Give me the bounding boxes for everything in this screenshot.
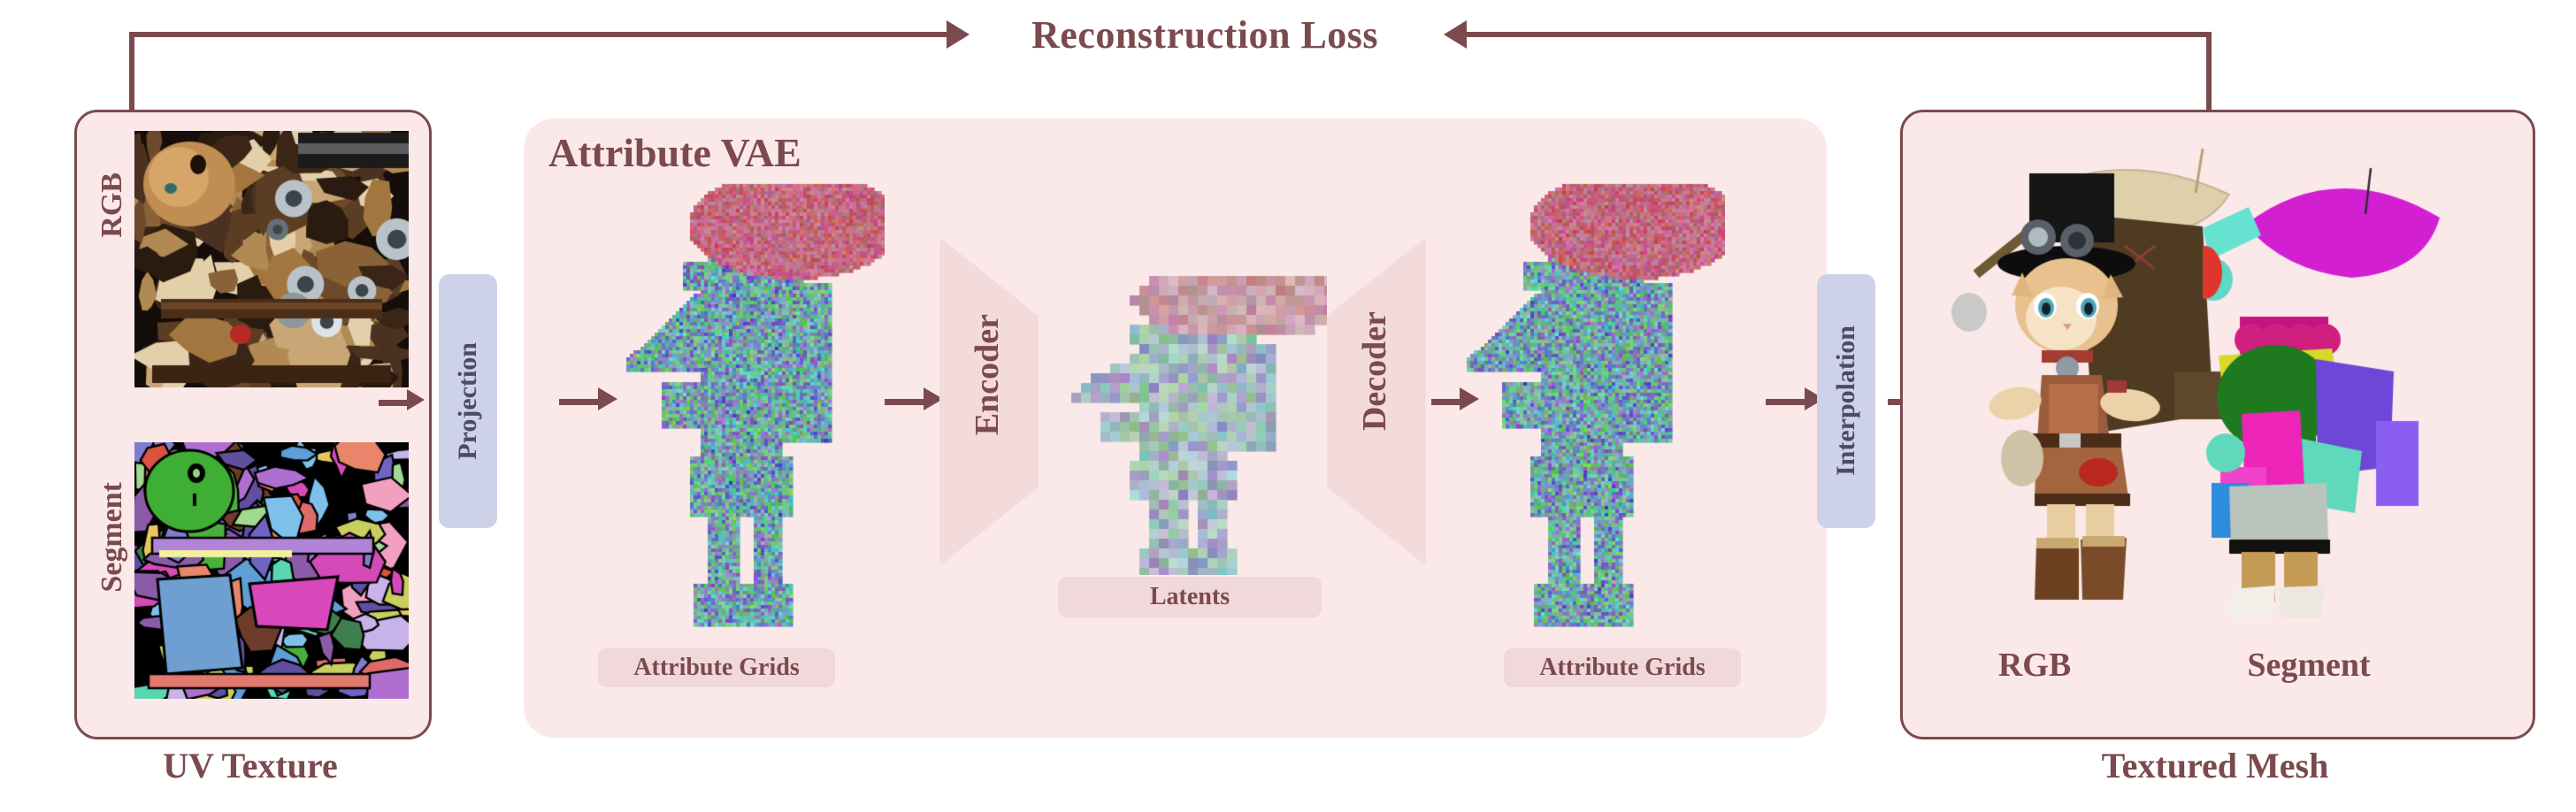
recon-bracket-left-horizontal [129, 32, 952, 37]
interpolation-box[interactable]: Interpolation [1817, 274, 1875, 528]
mesh-column-label-rgb: RGB [1937, 646, 2132, 685]
attribute-grids-output-render [1460, 159, 1725, 628]
uv-row-label-rgb: RGB [96, 172, 129, 238]
textured-mesh-caption: Textured Mesh [1900, 745, 2530, 786]
interpolation-label: Interpolation [1831, 326, 1861, 476]
arrow-projection-to-grids-shaft [559, 399, 602, 405]
arrow-uv-to-projection-head [407, 389, 425, 410]
latents-render [1062, 257, 1327, 575]
arrow-grids-to-encoder-shaft [885, 399, 927, 405]
arrow-grids-to-interpolation-shaft [1766, 399, 1808, 405]
arrow-decoder-to-grids-head [1460, 387, 1479, 410]
arrow-decoder-to-grids-shaft [1431, 399, 1463, 405]
recon-loss-label: Reconstruction Loss [1031, 12, 1378, 57]
mesh-column-label-segment: Segment [2185, 646, 2433, 685]
recon-bracket-right-vertical [2206, 32, 2212, 111]
uv-row-label-segment: Segment [96, 482, 129, 593]
recon-bracket-right-horizontal [1467, 32, 2212, 37]
decoder-label: Decoder [1355, 311, 1394, 431]
uv-texture-caption: UV Texture [74, 745, 426, 786]
uv-texture-segment-image [134, 442, 409, 699]
latents-chip: Latents [1058, 577, 1322, 617]
recon-arrow-right-head [1444, 20, 1467, 49]
attribute-grids-input-chip: Attribute Grids [598, 648, 835, 687]
textured-mesh-segment-render [2203, 122, 2503, 617]
projection-box[interactable]: Projection [439, 274, 497, 528]
recon-arrow-left-head [947, 20, 970, 49]
uv-texture-rgb-image [134, 131, 409, 387]
encoder-label: Encoder [968, 314, 1007, 435]
attribute-grids-input-render [619, 159, 885, 628]
arrow-uv-to-projection-shaft [379, 400, 410, 406]
arrow-projection-to-grids-head [598, 387, 617, 410]
projection-label: Projection [453, 342, 483, 460]
figure-canvas: Reconstruction Loss Attribute VAE RGB Se… [0, 0, 2576, 812]
recon-bracket-left-vertical [129, 32, 134, 111]
attribute-grids-output-chip: Attribute Grids [1504, 648, 1741, 687]
